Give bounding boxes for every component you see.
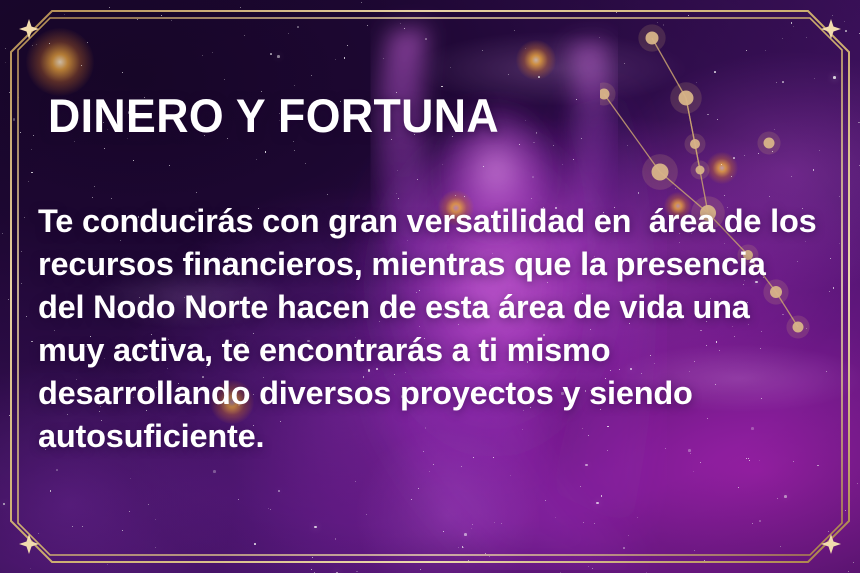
horoscope-card: DINERO Y FORTUNA Te conducirás con gran … (0, 0, 860, 573)
card-body-text: Te conducirás con gran versatilidad en á… (38, 200, 850, 458)
page-title: DINERO Y FORTUNA (48, 92, 499, 139)
card-content: DINERO Y FORTUNA Te conducirás con gran … (0, 0, 860, 573)
